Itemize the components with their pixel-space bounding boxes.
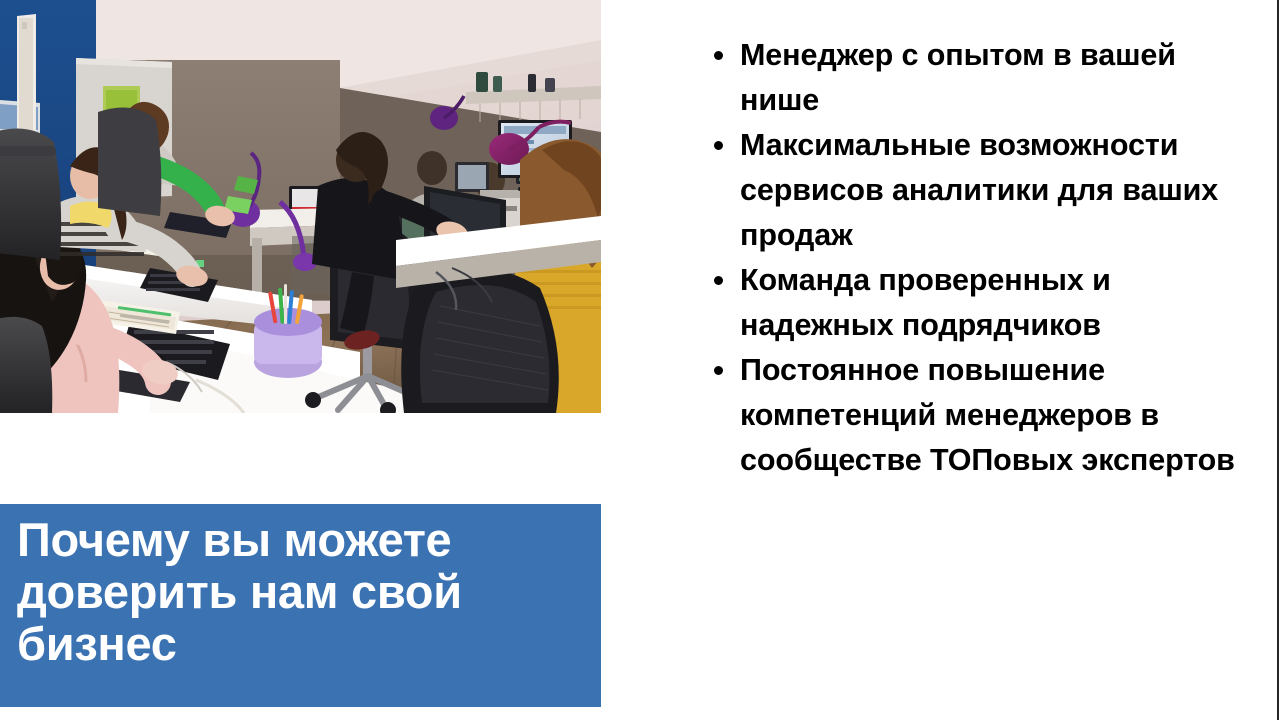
bullet-dot-icon bbox=[714, 276, 723, 285]
bullet-dot-icon bbox=[714, 141, 723, 150]
bullet-dot-icon bbox=[714, 366, 723, 375]
list-item: Постоянное повышение компетенций менедже… bbox=[740, 348, 1250, 483]
list-item: Максимальные возможности сервисов аналит… bbox=[740, 123, 1250, 258]
list-item-text: Постоянное повышение компетенций менедже… bbox=[740, 353, 1235, 477]
slide-title: Почему вы можете доверить нам свой бизне… bbox=[17, 514, 592, 670]
slide-right-border bbox=[1277, 0, 1279, 720]
benefits-list: Менеджер с опытом в вашей нише Максималь… bbox=[700, 33, 1250, 483]
list-item-text: Максимальные возможности сервисов аналит… bbox=[740, 128, 1218, 252]
slide-canvas: Почему вы можете доверить нам свой бизне… bbox=[0, 0, 1281, 720]
list-item: Менеджер с опытом в вашей нише bbox=[740, 33, 1250, 123]
list-item-text: Команда проверенных и надежных подрядчик… bbox=[740, 263, 1111, 342]
list-item: Команда проверенных и надежных подрядчик… bbox=[740, 258, 1250, 348]
title-banner: Почему вы можете доверить нам свой бизне… bbox=[0, 504, 601, 707]
office-photo bbox=[0, 0, 601, 413]
bullet-dot-icon bbox=[714, 51, 723, 60]
list-item-text: Менеджер с опытом в вашей нише bbox=[740, 38, 1176, 117]
